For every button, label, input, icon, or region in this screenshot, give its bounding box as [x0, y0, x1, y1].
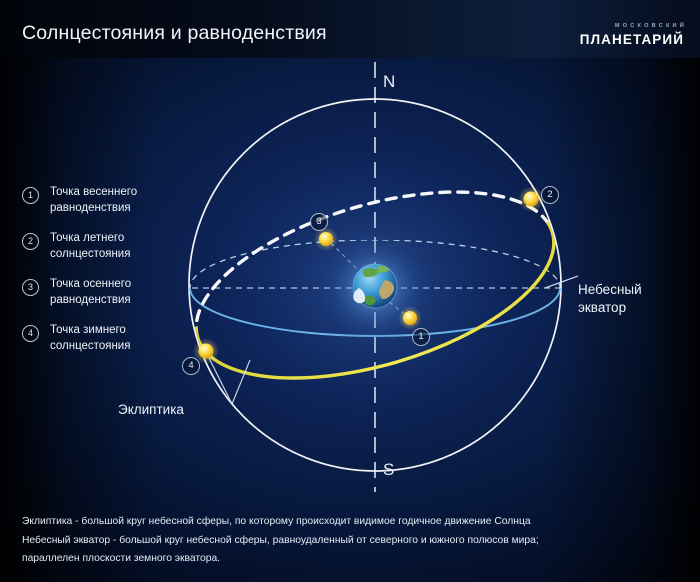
legend-badge-1: 1: [22, 187, 39, 204]
north-pole-label: N: [383, 72, 395, 92]
legend-item-winter-solstice[interactable]: 4 Точка зимнего солнцестояния: [22, 323, 175, 354]
legend-badge-3: 3: [22, 279, 39, 296]
caption-block: Эклиптика - большой круг небесной сферы,…: [22, 513, 682, 569]
legend-badge-4: 4: [22, 325, 39, 342]
legend: 1 Точка весеннего равноденствия 2 Точка …: [22, 185, 175, 369]
planetarium-logo: МОСКОВСКИЙ ПЛАНЕТАРИЙ: [580, 24, 684, 46]
legend-label-2: Точка летнего солнцестояния: [50, 231, 175, 262]
legend-item-autumnal-equinox[interactable]: 3 Точка осеннего равноденствия: [22, 277, 175, 308]
infographic-root: Солнцестояния и равноденствия МОСКОВСКИЙ…: [0, 0, 700, 582]
page-title: Солнцестояния и равноденствия: [22, 22, 327, 45]
celestial-equator-label: Небесный экватор: [578, 281, 642, 317]
legend-item-vernal-equinox[interactable]: 1 Точка весеннего равноденствия: [22, 185, 175, 216]
logo-line-top: МОСКОВСКИЙ: [580, 24, 687, 30]
marker-badge-2[interactable]: 2: [541, 186, 559, 204]
marker-point-1[interactable]: [398, 306, 422, 330]
marker-point-2[interactable]: [518, 186, 544, 212]
legend-badge-2: 2: [22, 233, 39, 250]
caption-line-2: Небесный экватор - большой круг небесной…: [22, 532, 682, 551]
legend-label-3: Точка осеннего равноденствия: [50, 277, 175, 308]
ecliptic-label: Эклиптика: [118, 402, 184, 417]
celestial-equator-label-line2: экватор: [578, 299, 642, 317]
marker-badge-3[interactable]: 3: [310, 213, 328, 231]
caption-line-1: Эклиптика - большой круг небесной сферы,…: [22, 513, 682, 532]
celestial-equator-label-line1: Небесный: [578, 281, 642, 299]
south-pole-label: S: [383, 460, 394, 480]
legend-label-4: Точка зимнего солнцестояния: [50, 323, 175, 354]
logo-line-bottom: ПЛАНЕТАРИЙ: [580, 33, 684, 47]
legend-label-1: Точка весеннего равноденствия: [50, 185, 175, 216]
marker-badge-1[interactable]: 1: [412, 328, 430, 346]
legend-item-summer-solstice[interactable]: 2 Точка летнего солнцестояния: [22, 231, 175, 262]
caption-line-3: параллелен плоскости земного экватора.: [22, 550, 682, 569]
marker-badge-4[interactable]: 4: [182, 357, 200, 375]
